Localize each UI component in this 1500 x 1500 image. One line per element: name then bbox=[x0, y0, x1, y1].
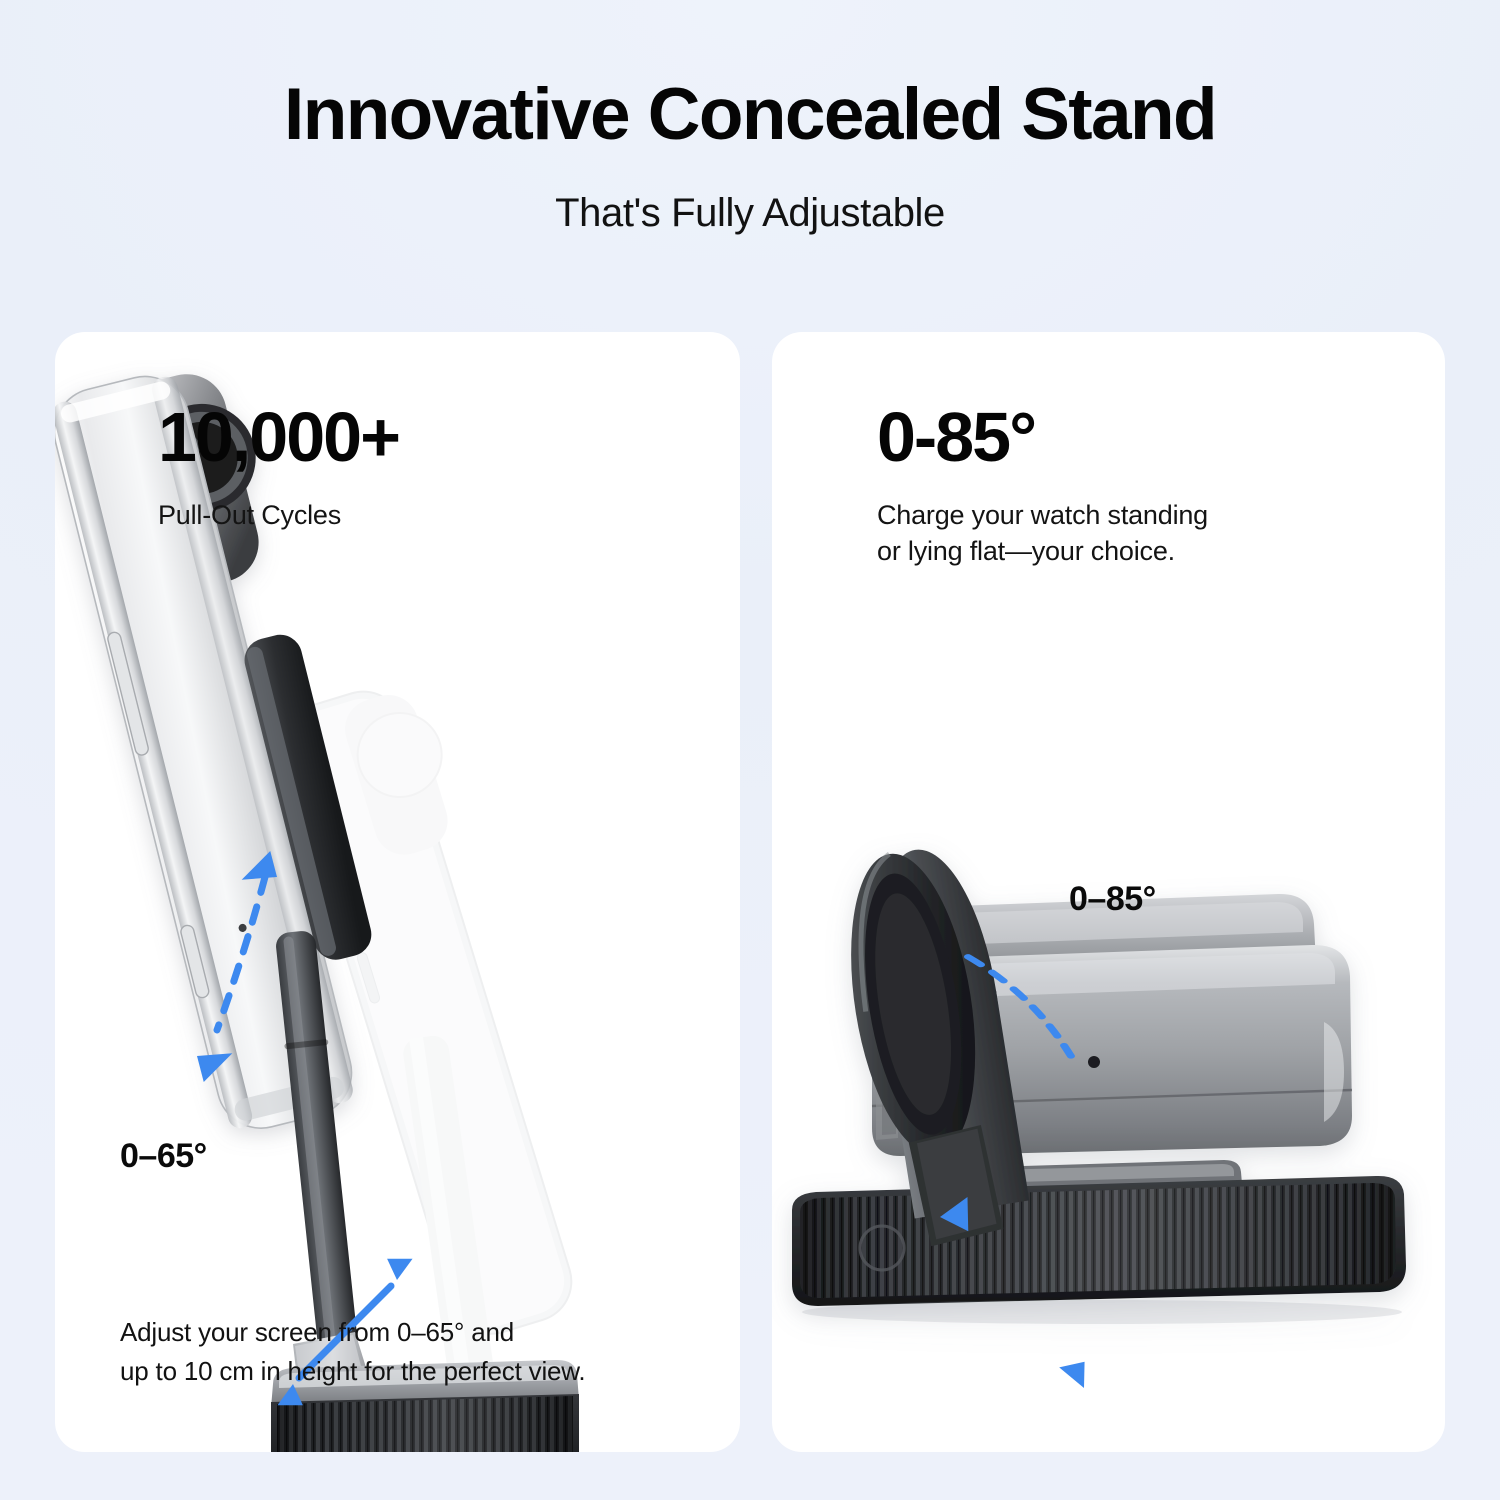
annotation-angle-0-65 bbox=[192, 846, 282, 1086]
magsafe-charging-pad bbox=[240, 630, 376, 964]
charger-middle-body bbox=[872, 945, 1352, 1156]
charger-tray-lip bbox=[972, 1160, 1242, 1192]
stat-label: Charge your watch standing or lying flat… bbox=[877, 498, 1208, 569]
page-header: Innovative Concealed Stand That's Fully … bbox=[0, 0, 1500, 236]
stat-block-pull-out-cycles: 10,000+ Pull-Out Cycles bbox=[158, 402, 399, 534]
ghost-phone-silhouette bbox=[273, 673, 610, 1409]
feature-card-watch-charger-angle: 0-85° Charge your watch standing or lyin… bbox=[772, 332, 1445, 1452]
watch-charger-disc bbox=[832, 841, 1034, 1252]
card-footnote: Adjust your screen from 0–65° and up to … bbox=[120, 1313, 585, 1392]
stat-block-watch-angle: 0-85° Charge your watch standing or lyin… bbox=[877, 402, 1208, 569]
page-title: Innovative Concealed Stand bbox=[0, 78, 1500, 151]
page-subtitle: That's Fully Adjustable bbox=[0, 191, 1500, 236]
annotation-label-angle-0-85: 0–85° bbox=[1069, 880, 1156, 919]
feature-card-pull-out-cycles: 10,000+ Pull-Out Cycles 0–65° 10cm Adjus… bbox=[55, 332, 740, 1452]
feature-card-row: 10,000+ Pull-Out Cycles 0–65° 10cm Adjus… bbox=[55, 332, 1445, 1452]
annotation-label-angle-0-65: 0–65° bbox=[120, 1137, 207, 1176]
stat-label: Pull-Out Cycles bbox=[158, 498, 399, 534]
annotation-angle-0-85 bbox=[938, 957, 1089, 1388]
stat-value: 10,000+ bbox=[158, 402, 399, 472]
stat-value: 0-85° bbox=[877, 402, 1208, 472]
charger-base-knurled bbox=[792, 1176, 1406, 1324]
